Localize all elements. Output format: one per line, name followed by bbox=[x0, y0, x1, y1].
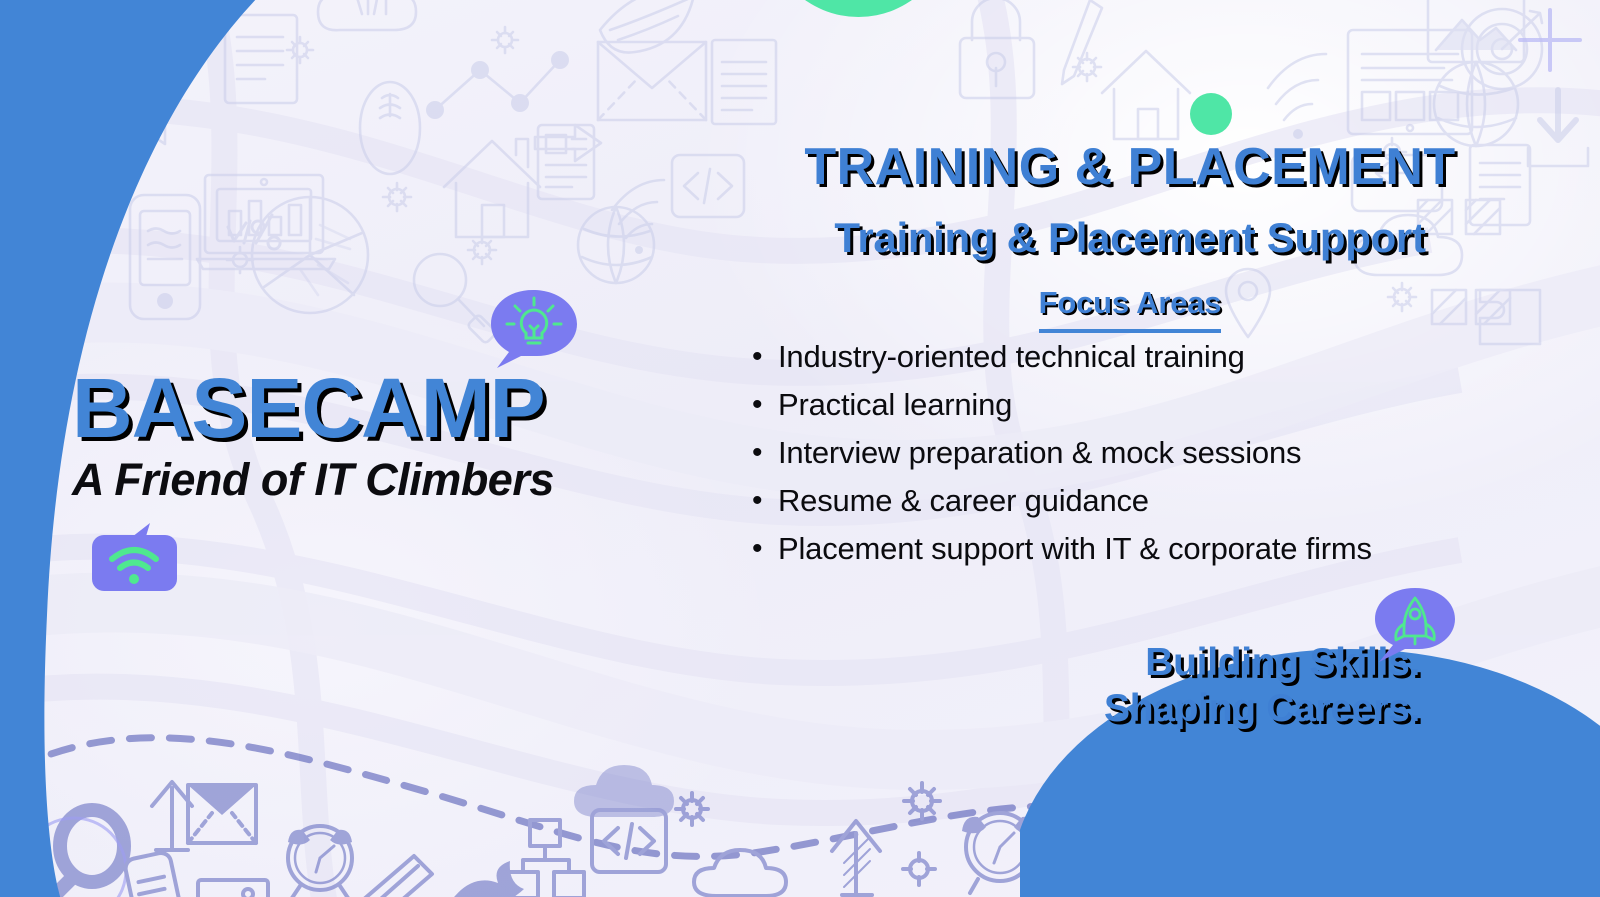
rocket-bubble bbox=[1371, 586, 1457, 664]
focus-area-item: Practical learning bbox=[778, 381, 1570, 429]
focus-areas-list: Industry-oriented technical trainingPrac… bbox=[690, 333, 1570, 573]
section-label: Focus Areas bbox=[1039, 284, 1222, 333]
wifi-icon bbox=[92, 523, 177, 591]
lightbulb-bubble bbox=[487, 288, 579, 370]
focus-area-item: Industry-oriented technical training bbox=[778, 333, 1570, 381]
slogan: Building Skills. Shaping Careers. bbox=[860, 640, 1420, 732]
green-circle-small bbox=[1190, 93, 1232, 135]
brand-block: BASECAMP A Friend of IT Climbers bbox=[72, 365, 632, 505]
focus-area-item: Placement support with IT & corporate fi… bbox=[778, 525, 1570, 573]
focus-area-item: Interview preparation & mock sessions bbox=[778, 429, 1570, 477]
brand-name: BASECAMP bbox=[72, 365, 632, 451]
focus-area-item: Resume & career guidance bbox=[778, 477, 1570, 525]
poster-canvas: BASECAMP A Friend of IT Climbers TRAININ… bbox=[0, 0, 1600, 897]
brand-tagline: A Friend of IT Climbers bbox=[72, 455, 632, 505]
content-column: TRAINING & PLACEMENT Training & Placemen… bbox=[690, 138, 1570, 573]
wifi-bubble bbox=[92, 523, 177, 591]
page-subtitle: Training & Placement Support bbox=[690, 214, 1570, 262]
lightbulb-icon bbox=[487, 288, 579, 370]
page-title: TRAINING & PLACEMENT bbox=[690, 138, 1570, 196]
slogan-line-2: Shaping Careers. bbox=[860, 686, 1420, 732]
rocket-icon bbox=[1371, 586, 1457, 664]
